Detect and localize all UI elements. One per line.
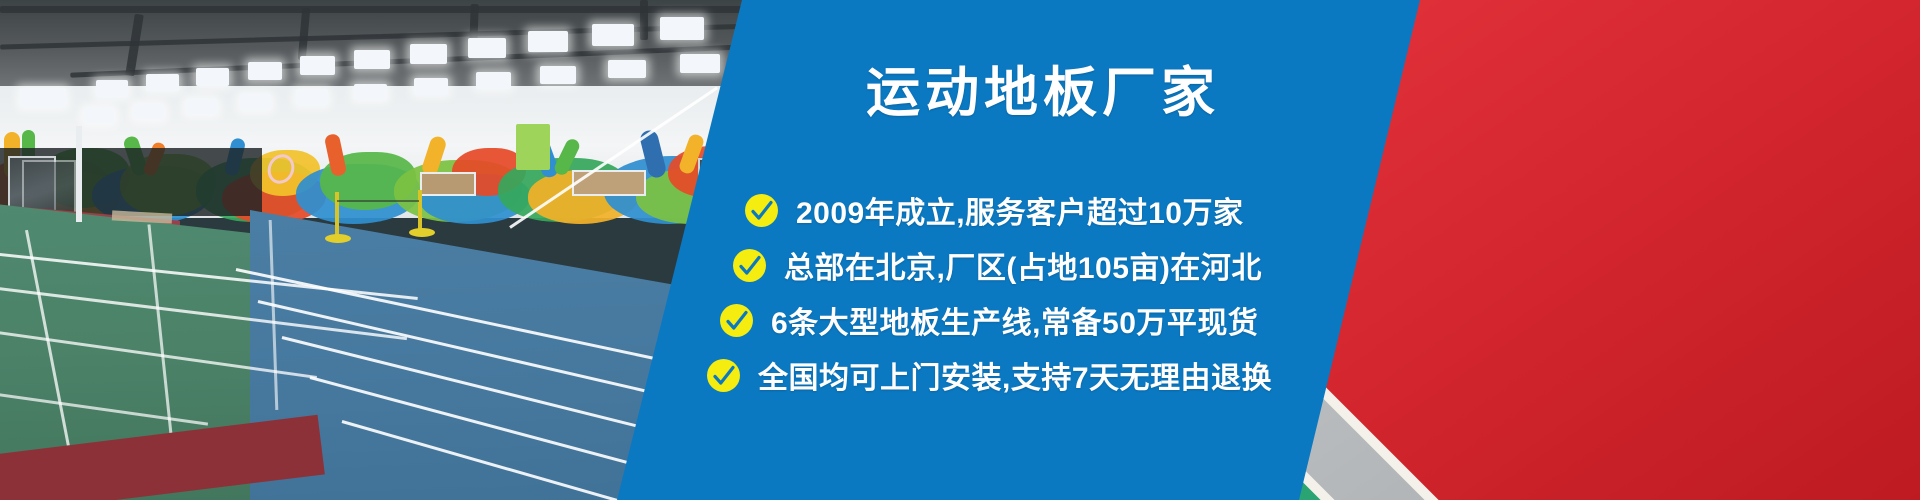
ceiling-light xyxy=(540,66,576,84)
wall-panel xyxy=(572,170,646,196)
net-base xyxy=(409,228,435,237)
ceiling-light xyxy=(196,68,229,86)
ceiling-light xyxy=(414,78,448,95)
ceiling-light xyxy=(354,50,390,69)
ceiling-light xyxy=(20,88,66,107)
ceiling-light xyxy=(84,108,114,123)
promo-banner: 运动地板厂家 2009年成立,服务客户超过10万家 总部在北京,厂区(占地105… xyxy=(0,0,1920,500)
feature-item-4: 全国均可上门安装,支持7天无理由退换 xyxy=(707,353,1272,397)
check-circle-icon xyxy=(707,359,740,392)
net-base xyxy=(325,234,351,243)
net-post xyxy=(335,192,339,236)
ceiling-light xyxy=(240,94,271,110)
wall-column xyxy=(76,126,82,222)
feature-text: 2009年成立,服务客户超过10万家 xyxy=(796,188,1243,232)
feature-item-2: 总部在北京,厂区(占地105亩)在河北 xyxy=(733,243,1262,287)
check-circle-icon xyxy=(720,304,753,337)
ceiling-light xyxy=(134,104,164,119)
ceiling-light xyxy=(296,89,328,105)
ceiling-light xyxy=(300,56,335,75)
wall-panel xyxy=(420,172,476,196)
ceiling-light xyxy=(608,60,646,78)
feature-text: 6条大型地板生产线,常备50万平现货 xyxy=(771,298,1258,342)
feature-text: 全国均可上门安装,支持7天无理由退换 xyxy=(758,353,1272,397)
ceiling-light xyxy=(186,99,217,114)
ceiling-light xyxy=(96,80,128,97)
wall-sign xyxy=(516,124,550,170)
ceiling-light xyxy=(248,62,282,80)
ceiling-light xyxy=(468,38,506,58)
ceiling-light xyxy=(528,31,568,52)
ceiling-light xyxy=(410,44,447,64)
ceiling-beam xyxy=(640,0,648,40)
check-circle-icon xyxy=(733,249,766,282)
ceiling-light xyxy=(146,74,179,91)
ceiling-light xyxy=(592,24,634,46)
ceiling-light xyxy=(660,17,704,40)
check-circle-icon xyxy=(745,194,778,227)
feature-item-1: 2009年成立,服务客户超过10万家 xyxy=(745,188,1243,232)
ceiling-light xyxy=(476,72,511,89)
ceiling-light xyxy=(680,54,720,73)
feature-item-3: 6条大型地板生产线,常备50万平现货 xyxy=(720,298,1258,342)
feature-text: 总部在北京,厂区(占地105亩)在河北 xyxy=(784,243,1262,287)
ceiling-light xyxy=(354,84,387,100)
banner-title: 运动地板厂家 xyxy=(866,62,1220,124)
